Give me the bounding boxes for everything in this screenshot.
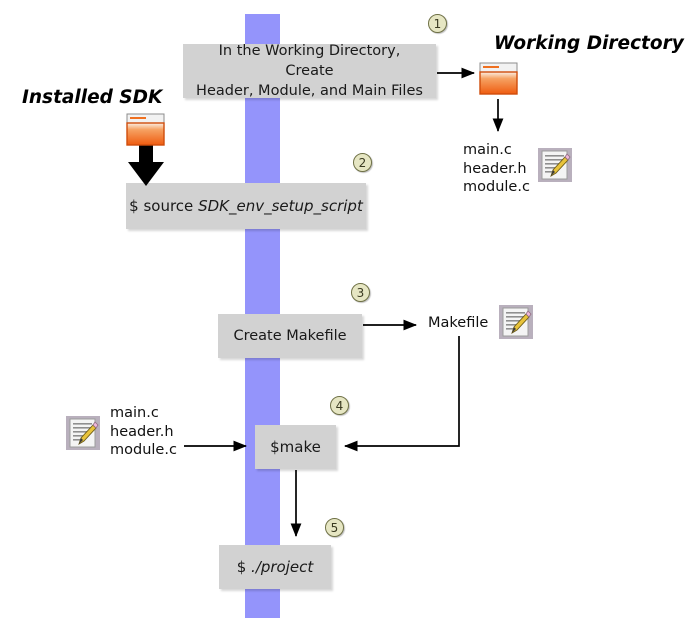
folder-icon <box>479 62 521 96</box>
create-makefile-label: Create Makefile <box>233 326 346 346</box>
document-edit-icon <box>538 148 572 182</box>
create-files-line-2: Header, Module, and Main Files <box>196 83 423 99</box>
project-cmd-path: ./project <box>251 558 313 576</box>
create-files-line-1: In the Working Directory, Create <box>219 43 401 79</box>
source-file-list: main.c header.h module.c <box>110 404 177 460</box>
make-label: $make <box>270 437 321 458</box>
step-badge-1: 1 <box>428 14 447 33</box>
project-cmd-prefix: $ <box>237 558 251 576</box>
lane-title-installed-sdk: Installed SDK <box>22 87 162 108</box>
step-badge-4: 4 <box>330 396 349 415</box>
step-box-run-project[interactable]: $ ./project <box>219 545 331 589</box>
step-badge-2: 2 <box>353 153 372 172</box>
step-box-make[interactable]: $make <box>255 425 336 469</box>
diagram-canvas: Installed SDK Working Directory In the W… <box>0 0 687 624</box>
makefile-artifact-label: Makefile <box>428 314 488 333</box>
document-edit-icon <box>499 305 533 339</box>
step-box-create-makefile[interactable]: Create Makefile <box>218 314 362 358</box>
source-cmd-prefix: $ source <box>129 197 198 215</box>
folder-icon <box>126 113 168 147</box>
connector-makefile-to-make <box>345 336 459 446</box>
lane-title-working-directory: Working Directory <box>494 33 684 54</box>
step-badge-3: 3 <box>351 283 370 302</box>
source-cmd-script: SDK_env_setup_script <box>198 197 363 215</box>
document-edit-icon <box>66 416 100 450</box>
step-badge-5: 5 <box>325 518 344 537</box>
step-box-source-sdk-env[interactable]: $ source SDK_env_setup_script <box>126 183 366 229</box>
step-box-create-files[interactable]: In the Working Directory, Create Header,… <box>183 44 436 98</box>
working-directory-file-list: main.c header.h module.c <box>463 141 530 197</box>
